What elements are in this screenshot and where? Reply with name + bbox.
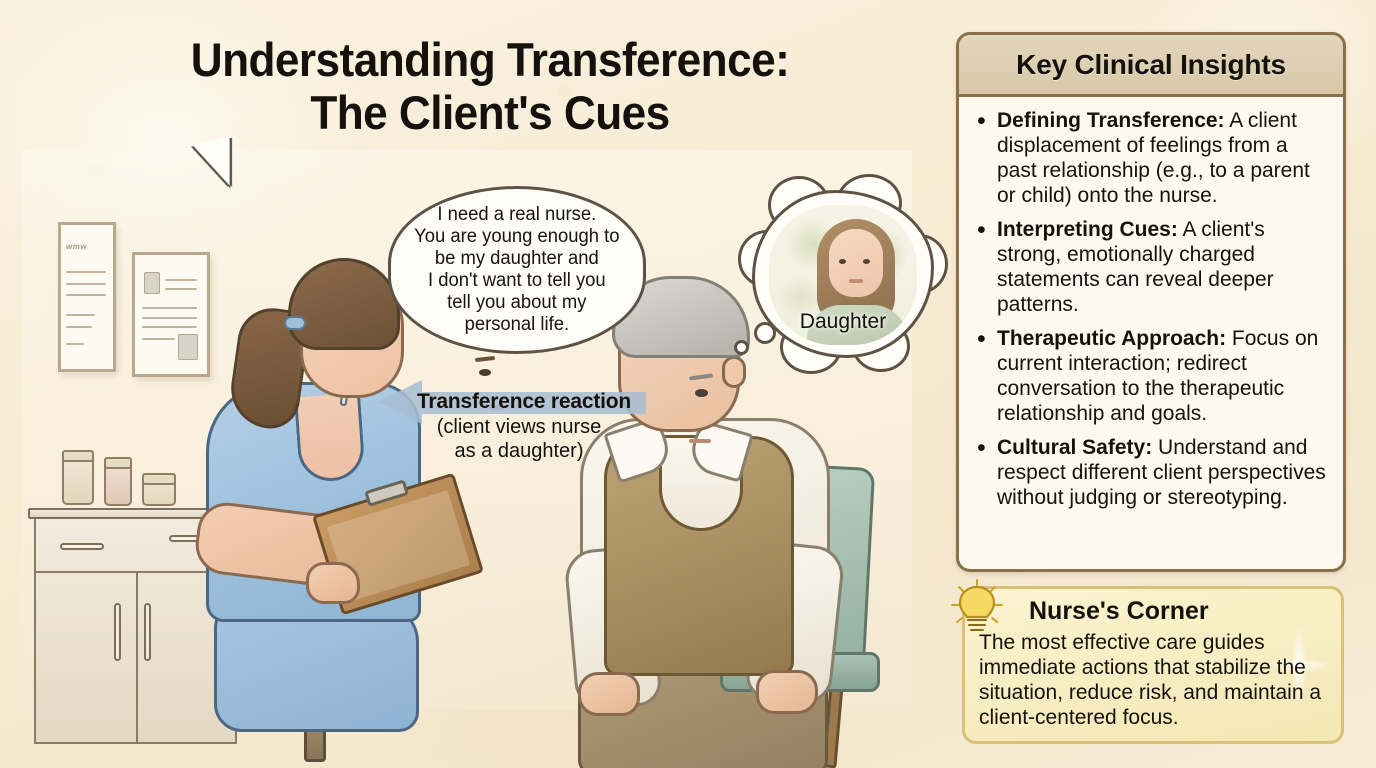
client-eyebrow xyxy=(689,373,713,380)
daughter-eye xyxy=(839,259,846,264)
transference-sublabel: (client views nurse as a daughter) xyxy=(396,416,642,463)
client-thought-bubble: Daughter xyxy=(752,190,934,358)
nurses-corner-title: Nurse's Corner xyxy=(1029,597,1209,626)
client-ear xyxy=(722,356,746,388)
client-hand xyxy=(578,672,640,716)
client-mouth xyxy=(689,439,711,443)
cabinet-handle xyxy=(60,543,104,550)
nurses-corner-text: The most effective care guides immediate… xyxy=(979,631,1329,731)
insight-item: Interpreting Cues: A client's strong, em… xyxy=(975,218,1329,318)
nurse-hair xyxy=(288,258,400,350)
counter-jar xyxy=(104,462,132,506)
nurse-eye xyxy=(479,369,491,376)
insight-item: Cultural Safety: Understand and respect … xyxy=(975,436,1329,511)
key-clinical-insights-card: Key Clinical Insights Defining Transfere… xyxy=(956,32,1346,572)
frame-scribble-label: wmw xyxy=(66,242,88,251)
nurse-neckline xyxy=(294,393,366,483)
infographic-page: Understanding Transference: The Client's… xyxy=(0,0,1376,768)
lightbulb-icon xyxy=(946,576,1008,638)
wall-certificate-frame: wmw xyxy=(58,222,116,372)
nurse-hand xyxy=(306,562,360,604)
title-line-2: The Client's Cues xyxy=(86,87,894,140)
insight-item: Defining Transference: A client displace… xyxy=(975,109,1329,209)
client-hand xyxy=(756,670,818,714)
hair-tie xyxy=(284,316,306,330)
insights-list: Defining Transference: A client displace… xyxy=(959,97,1343,530)
nurse-eyebrow xyxy=(475,356,495,362)
nurses-corner-card: Nurse's Corner The most effective care g… xyxy=(962,586,1344,744)
daughter-smile xyxy=(849,279,863,283)
speech-bubble-text: I need a real nurse. You are young enoug… xyxy=(405,204,630,336)
insight-term: Interpreting Cues: xyxy=(997,218,1178,241)
insights-card-title: Key Clinical Insights xyxy=(1016,49,1286,81)
insight-term: Therapeutic Approach: xyxy=(997,327,1226,350)
daughter-eye xyxy=(863,259,870,264)
counter-jar xyxy=(62,455,94,505)
thought-bubble-dot xyxy=(734,340,749,355)
client-speech-bubble: I need a real nurse. You are young enoug… xyxy=(388,186,646,354)
counter-jar xyxy=(142,478,176,506)
page-title: Understanding Transference: The Client's… xyxy=(60,34,920,139)
transference-annotation: Transference reaction (client views nurs… xyxy=(378,378,646,474)
insight-term: Cultural Safety: xyxy=(997,436,1152,459)
title-line-1: Understanding Transference: xyxy=(86,34,894,87)
client-eye xyxy=(695,389,708,397)
cabinet-handle xyxy=(144,603,151,661)
daughter-face xyxy=(829,229,883,297)
cabinet-handle xyxy=(114,603,121,661)
transference-label: Transference reaction xyxy=(404,390,644,414)
thought-bubble-label: Daughter xyxy=(752,310,934,334)
insight-term: Defining Transference: xyxy=(997,109,1225,132)
insights-card-header: Key Clinical Insights xyxy=(959,35,1343,97)
insight-item: Therapeutic Approach: Focus on current i… xyxy=(975,327,1329,427)
cabinet-divider-line xyxy=(136,571,138,742)
